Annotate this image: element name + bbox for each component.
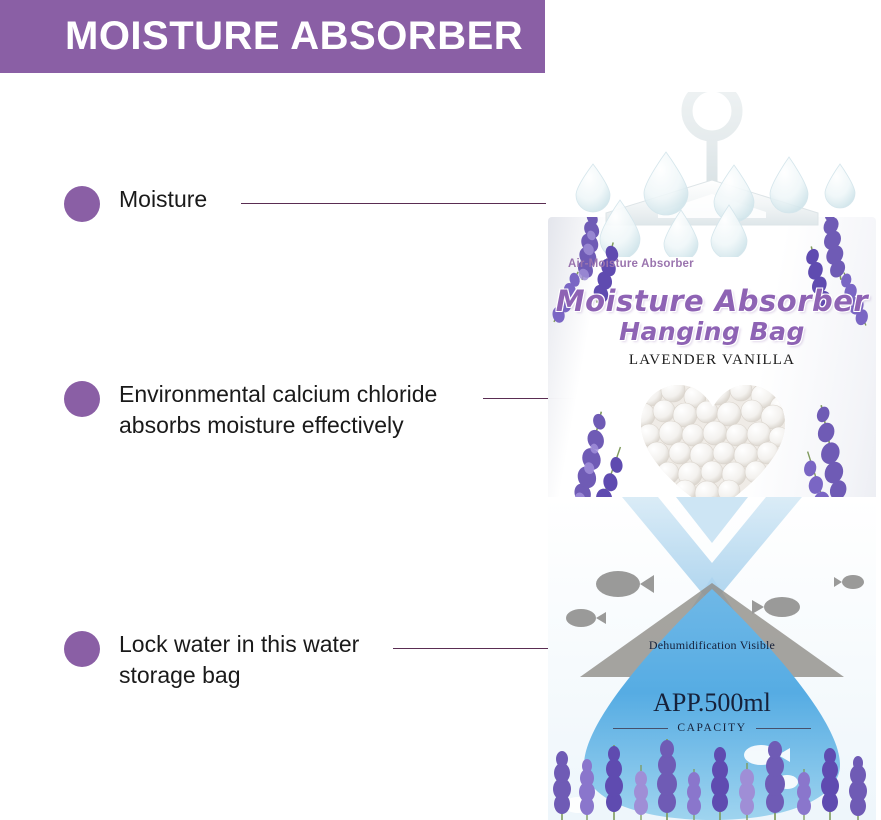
bead-heart-icon bbox=[633, 377, 793, 517]
bullet-dot-icon bbox=[64, 631, 100, 667]
feature-label: Moisture bbox=[119, 184, 207, 215]
water-storage-illustration bbox=[548, 497, 876, 820]
page-title: MOISTURE ABSORBER bbox=[0, 14, 523, 59]
feature-item-water-storage: Lock water in this water storage bag bbox=[64, 629, 359, 691]
product-title-line1: Moisture Absorber bbox=[548, 284, 876, 318]
feature-label: Environmental calcium chloride absorbs m… bbox=[119, 379, 437, 441]
water-droplet-icon bbox=[548, 122, 876, 257]
capacity-label: CAPACITY bbox=[677, 722, 746, 734]
bullet-dot-icon bbox=[64, 186, 100, 222]
capacity-value: APP.500ml bbox=[548, 688, 876, 718]
feature-item-calcium-chloride: Environmental calcium chloride absorbs m… bbox=[64, 379, 437, 441]
capacity-rule-left bbox=[613, 728, 668, 729]
capacity-row: CAPACITY bbox=[548, 722, 876, 734]
product-title-line2: Hanging Bag bbox=[548, 317, 876, 346]
product-tagline: Air-Moisture Absorber bbox=[568, 258, 694, 270]
callout-connector-line bbox=[241, 203, 546, 204]
header-banner: MOISTURE ABSORBER bbox=[0, 0, 545, 73]
feature-item-moisture: Moisture bbox=[64, 184, 207, 222]
dehumidification-caption: Dehumidification Visible bbox=[548, 638, 876, 653]
feature-label: Lock water in this water storage bag bbox=[119, 629, 359, 691]
product-scent-label: LAVENDER VANILLA bbox=[548, 352, 876, 369]
product-package-image: Air-Moisture Absorber Moisture Absorber … bbox=[548, 92, 876, 820]
bullet-dot-icon bbox=[64, 381, 100, 417]
capacity-rule-right bbox=[756, 728, 811, 729]
